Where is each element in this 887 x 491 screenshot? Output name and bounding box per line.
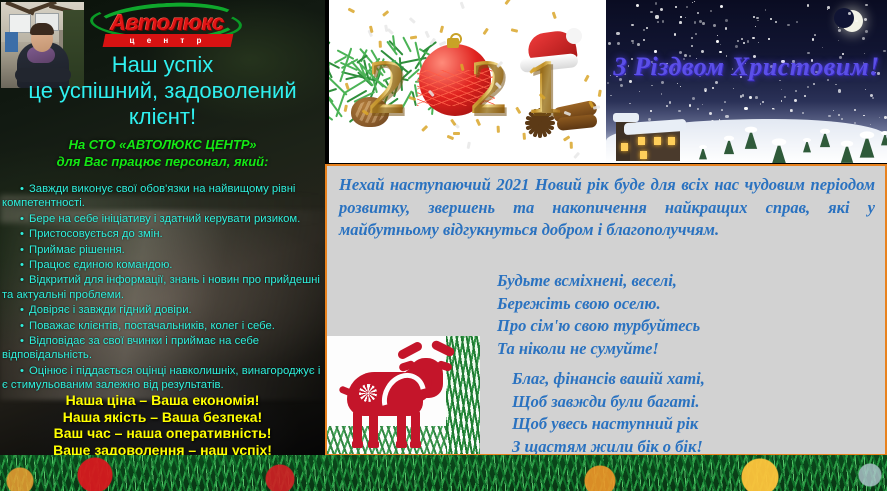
snowflake	[617, 42, 620, 45]
confetti	[439, 25, 443, 32]
snowflake	[697, 108, 699, 110]
list-item: Працює єдиною командою.	[2, 258, 321, 272]
list-item: Приймає рішення.	[2, 243, 321, 257]
snowflake	[720, 5, 723, 8]
fir-tree-icon	[745, 129, 757, 149]
snowflake	[838, 40, 839, 41]
snowflake	[835, 84, 837, 86]
snowflake	[695, 33, 697, 35]
pine-needle	[329, 87, 337, 95]
verse-line: Бережіть свою оселю.	[497, 293, 877, 316]
slogan-line: Ваш час – наша оперативність!	[0, 425, 325, 442]
snowflake	[757, 20, 759, 22]
snowflake	[781, 89, 782, 90]
snowflake	[616, 32, 619, 35]
staff-qualities-list: Завжди виконує свої обов'язки на найвищо…	[0, 182, 325, 394]
snowflake	[790, 109, 793, 112]
snowflake	[655, 15, 658, 18]
snowflake	[650, 11, 652, 13]
confetti	[570, 142, 573, 149]
list-item: Поважає клієнтів, постачальників, колег …	[2, 319, 321, 333]
list-item: Відповідає за свої вчинки і приймає на с…	[2, 334, 321, 363]
snowflake	[822, 47, 823, 48]
confetti	[421, 125, 428, 132]
snowflake	[691, 37, 693, 39]
fir-tree-icon	[803, 140, 811, 153]
snowflake	[772, 108, 773, 109]
confetti	[370, 26, 374, 33]
snowflake	[704, 88, 707, 91]
snowflake	[865, 4, 867, 6]
snowflake	[827, 6, 830, 9]
snowflake	[804, 95, 806, 97]
snowflake	[660, 8, 663, 11]
year-digit: 1	[525, 48, 564, 126]
ox-image	[327, 336, 480, 456]
confetti	[584, 74, 589, 81]
snowflake	[762, 101, 764, 103]
snowflake	[753, 16, 755, 18]
slogan-line: Наша ціна – Ваша економія!	[0, 392, 325, 409]
snowflake	[827, 9, 829, 11]
snowflake	[607, 82, 609, 84]
snowflake	[784, 96, 786, 98]
confetti	[467, 142, 471, 149]
snowflake	[650, 110, 652, 112]
snowflake	[760, 103, 761, 104]
fir-tree-icon	[724, 138, 734, 154]
greeting-text-panel: Нехай наступаючий 2021 Новий рік буде дл…	[325, 164, 887, 456]
year-digit: 2	[469, 48, 508, 126]
snowflake	[833, 110, 834, 111]
snowflake	[661, 93, 663, 95]
snowflake	[796, 21, 798, 23]
bauble-ring	[450, 33, 462, 45]
verse-line: З щастям жили бік о бік!	[512, 436, 882, 457]
verse-line: Будьте всміхнені, веселі,	[497, 270, 877, 293]
verse-line: Про сім'ю свою турбуйтесь	[497, 315, 877, 338]
confetti	[379, 40, 382, 47]
snowflake	[752, 37, 754, 39]
snowflake	[662, 20, 664, 22]
greeting-verse-two: Благ, фінансів вашій хаті,Щоб завжди бул…	[512, 368, 882, 456]
snowflake	[629, 103, 630, 104]
snowflake	[802, 112, 804, 114]
crescent-moon-icon	[841, 10, 863, 32]
confetti	[523, 133, 526, 140]
snowflake	[680, 86, 682, 88]
confetti	[552, 11, 557, 18]
snowflake	[713, 24, 716, 27]
slogan-line: Наша якість – Ваша безпека!	[0, 409, 325, 426]
verse-line: Та ніколи не сумуйте!	[497, 338, 877, 361]
snowflake	[666, 105, 668, 107]
snowflake	[733, 88, 734, 89]
snowflake	[651, 85, 653, 87]
fir-tree-icon	[820, 131, 830, 147]
snowflake	[725, 19, 728, 22]
snowflake	[854, 109, 856, 111]
snowflake	[795, 90, 797, 92]
confetti	[451, 118, 457, 125]
snowflake	[697, 12, 699, 14]
pine-needle	[329, 42, 331, 56]
company-headline: Наш успіхце успішний, задоволенийклієнт!	[0, 52, 325, 130]
snowflake	[631, 40, 633, 42]
confetti	[409, 17, 416, 24]
snowflake	[632, 42, 634, 44]
company-subheading: На СТО «АВТОЛЮКС ЦЕНТР»для Вас працює пе…	[0, 136, 325, 170]
snowflake	[841, 118, 843, 120]
snowflake	[814, 34, 816, 36]
verse-line: Щоб завжди були багаті.	[512, 391, 882, 414]
confetti	[511, 28, 518, 32]
christmas-image: З Різдвом Христовим!	[606, 0, 887, 163]
snowflake	[712, 87, 714, 89]
snowflake	[787, 24, 789, 26]
snowflake	[643, 29, 646, 32]
snowflake	[863, 115, 864, 116]
confetti	[573, 152, 580, 159]
snow-house-icon	[616, 113, 682, 161]
list-item: Відкритий для інформації, знань і новин …	[2, 273, 321, 302]
snowflake	[678, 110, 681, 113]
snowflake	[828, 115, 830, 117]
confetti	[453, 132, 460, 135]
snowflake	[655, 2, 658, 5]
confetti	[504, 0, 510, 5]
confetti	[384, 25, 388, 32]
snowflake	[679, 21, 682, 24]
snowflake	[680, 16, 681, 17]
confetti	[382, 10, 389, 16]
confetti	[598, 90, 602, 97]
snowflake	[838, 114, 840, 116]
snowflake	[692, 2, 693, 3]
snowflake	[716, 40, 719, 43]
snowflake	[879, 117, 880, 118]
snowflake	[865, 30, 868, 33]
avtoluks-logo: Автолюкс ц е н т р	[88, 2, 246, 50]
fir-tree-icon	[699, 147, 707, 160]
greeting-paragraph: Нехай наступаючий 2021 Новий рік буде дл…	[339, 174, 875, 242]
snowflake	[870, 124, 871, 125]
snowflake	[812, 38, 815, 41]
logo-subtext: ц е н т р	[104, 34, 232, 47]
snowflake	[675, 6, 676, 7]
snowflake	[702, 104, 704, 106]
fir-tree-icon	[841, 143, 853, 163]
snowflake	[717, 35, 719, 37]
snowflake	[686, 6, 688, 8]
snowflake	[781, 100, 782, 101]
snowflake	[813, 83, 815, 85]
company-slogans: Наша ціна – Ваша економія!Наша якість – …	[0, 392, 325, 455]
snowflake	[865, 89, 867, 91]
snowflake	[691, 45, 693, 47]
snowflake	[794, 99, 797, 102]
list-item: Оцінює і піддається оцінці навколишніх, …	[2, 364, 321, 393]
company-panel: Автолюкс ц е н т р Наш успіхце успішний,…	[0, 0, 325, 455]
christmas-greeting-title: З Різдвом Христовим!	[606, 52, 887, 82]
snowflake	[677, 83, 679, 85]
new-year-2021-image: 221	[329, 0, 606, 163]
fir-tree-icon	[860, 134, 875, 157]
snowflake	[643, 39, 645, 41]
snowflake	[775, 21, 777, 23]
snowflake	[725, 27, 728, 30]
fir-tree-icon	[881, 133, 887, 146]
red-ox-icon	[339, 342, 449, 450]
snowflake	[608, 42, 611, 45]
snowflake	[737, 40, 739, 42]
snowflake	[610, 95, 612, 97]
snowflake	[872, 97, 874, 99]
confetti	[563, 136, 570, 142]
snowflake	[742, 94, 745, 97]
snowflake	[631, 24, 634, 27]
snowflake	[807, 4, 810, 7]
list-item: Завжди виконує свої обов'язки на найвищо…	[2, 182, 321, 211]
list-item: Довіряє і завжди гідний довіри.	[2, 303, 321, 317]
snowflake	[685, 17, 686, 18]
snowflake	[768, 38, 769, 39]
confetti	[483, 27, 489, 34]
confetti	[447, 134, 454, 139]
year-digit: 2	[367, 48, 406, 126]
snowflake	[720, 44, 721, 45]
snowflake	[864, 18, 867, 21]
snowflake	[838, 29, 841, 32]
greeting-card: Автолюкс ц е н т р Наш успіхце успішний,…	[0, 0, 887, 491]
snowflake	[735, 45, 738, 48]
confetti	[516, 107, 522, 114]
greeting-verse-one: Будьте всміхнені, веселі,Бережіть свою о…	[497, 270, 877, 360]
list-item: Бере на себе ініціативу і здатний керува…	[2, 212, 321, 226]
snowflake	[674, 33, 677, 36]
snowflake	[744, 107, 747, 110]
snowflake	[620, 84, 623, 87]
snowflake	[636, 4, 639, 7]
snowflake	[743, 42, 745, 44]
snowflake	[692, 97, 695, 100]
list-item: Пристосовується до змін.	[2, 227, 321, 241]
snowflake	[724, 101, 726, 103]
snowflake	[694, 21, 696, 23]
logo-wordmark: Автолюкс	[88, 10, 246, 36]
snowflake	[855, 20, 857, 22]
snowflake	[862, 37, 865, 40]
snowflake	[838, 89, 841, 92]
slogan-line: Ваше задоволення – наш успіх!	[0, 442, 325, 456]
snowflake	[755, 26, 756, 27]
snowflake	[721, 109, 723, 111]
snowflake	[699, 20, 702, 23]
snowflake	[637, 43, 640, 46]
snowflake	[639, 91, 640, 92]
snowflake	[646, 27, 649, 30]
snowflake	[838, 27, 839, 28]
confetti	[348, 7, 355, 12]
snowflake	[740, 95, 743, 98]
snowflake	[755, 96, 758, 99]
snowflake	[765, 9, 767, 11]
bottom-fir-strip	[0, 455, 887, 491]
snowflake	[747, 40, 750, 43]
confetti	[460, 2, 465, 9]
fir-tree-icon	[772, 141, 787, 163]
snowflake	[749, 96, 752, 99]
snowflake	[657, 21, 659, 23]
snowflake	[710, 10, 712, 12]
snowflake	[741, 38, 743, 40]
snowflake	[709, 112, 712, 115]
snowflake	[770, 18, 772, 20]
snowflake	[807, 86, 809, 88]
verse-line: Благ, фінансів вашій хаті,	[512, 368, 882, 391]
verse-line: Щоб увесь наступний рік	[512, 413, 882, 436]
snowflake	[689, 104, 691, 106]
snowflake	[694, 1, 695, 2]
snowflake	[702, 22, 705, 25]
confetti	[497, 126, 500, 133]
snowflake	[725, 115, 728, 118]
snowflake	[884, 116, 887, 119]
snowflake	[669, 101, 671, 103]
snowflake	[758, 42, 759, 43]
